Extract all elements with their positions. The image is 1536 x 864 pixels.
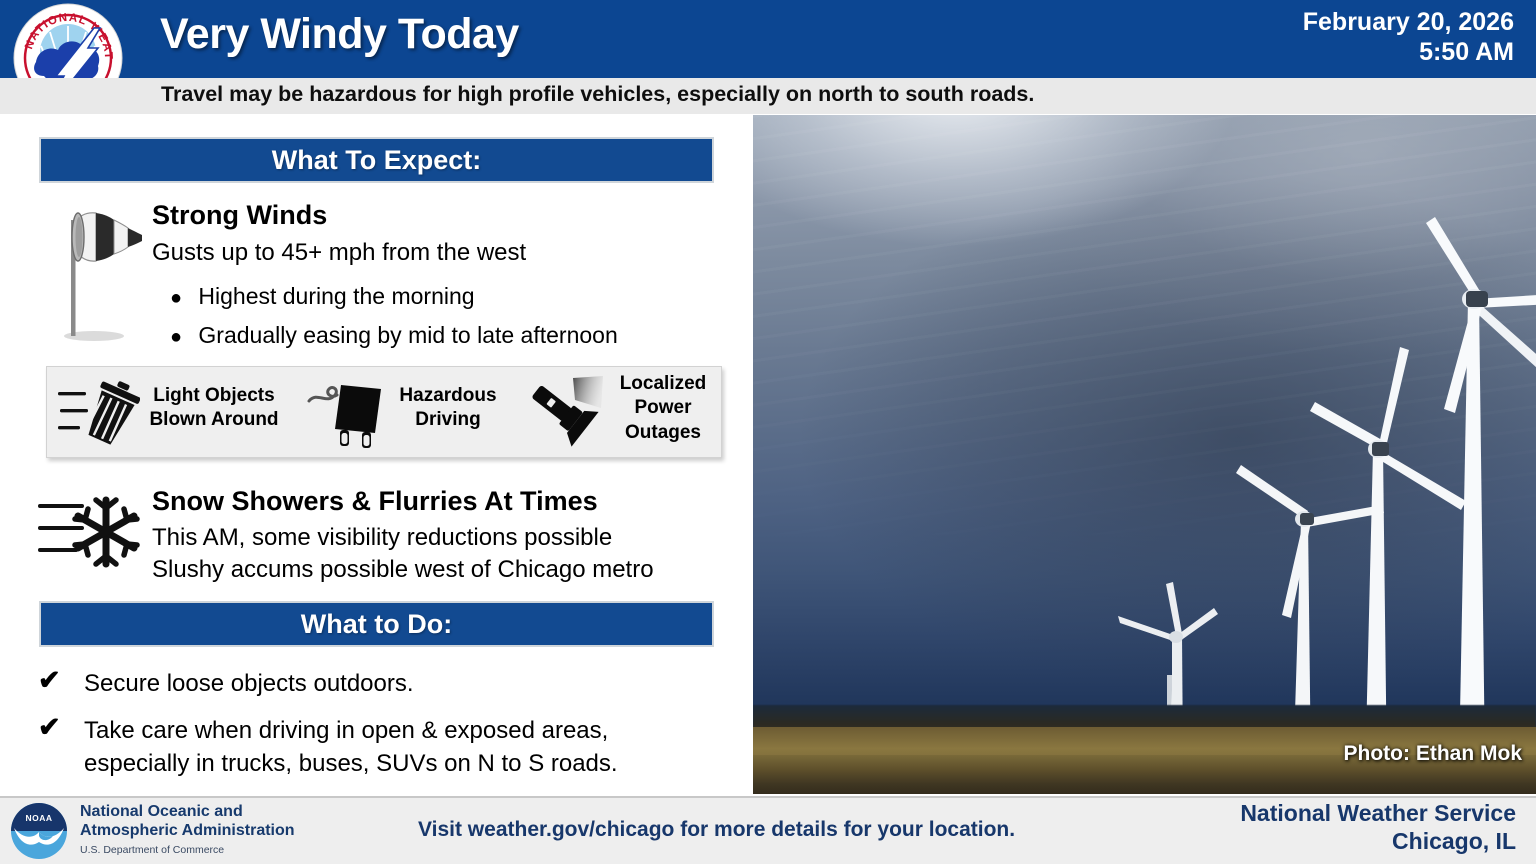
weather-graphic: NATIONAL WEATHER SERVICE Very Windy Toda… — [0, 0, 1536, 864]
impact-label-light-objects: Light Objects Blown Around — [140, 384, 288, 433]
noaa-seal-icon: NOAA — [8, 802, 70, 860]
snow-showers-line-2: Slushy accums possible west of Chicago m… — [152, 556, 654, 584]
strong-winds-bullet-2: ● Gradually easing by mid to late aftern… — [170, 322, 618, 349]
check-icon: ✔ — [38, 665, 61, 696]
svg-text:NOAA: NOAA — [25, 813, 52, 823]
what-to-do-label: What to Do: — [301, 609, 452, 640]
noaa-line-3: U.S. Department of Commerce — [80, 844, 295, 856]
wind-turbine-photo: Photo: Ethan Mok — [753, 115, 1536, 794]
strong-winds-heading: Strong Winds — [152, 200, 327, 231]
what-to-do-banner: What to Do: — [39, 601, 714, 647]
header-datetime: February 20, 2026 5:50 AM — [1303, 8, 1514, 67]
header-time: 5:50 AM — [1303, 38, 1514, 68]
footer-visit-text: Visit weather.gov/chicago for more detai… — [418, 818, 1015, 842]
snowflake-wind-icon — [32, 486, 144, 578]
subheader-text: Travel may be hazardous for high profile… — [161, 82, 1034, 107]
what-to-expect-label: What To Expect: — [272, 145, 482, 176]
what-to-do-item-2: Take care when driving in open & exposed… — [84, 714, 618, 780]
footer-office-line-2: Chicago, IL — [1240, 828, 1516, 856]
strong-winds-bullet-1: ● Highest during the morning — [170, 283, 475, 310]
windsock-icon — [52, 198, 152, 346]
flashlight-icon — [523, 374, 607, 448]
strong-winds-bullet-2-label: Gradually easing by mid to late afternoo… — [198, 322, 617, 348]
trash-can-blowing-icon — [58, 378, 140, 448]
wind-turbines — [753, 115, 1536, 794]
noaa-line-1: National Oceanic and — [80, 803, 295, 822]
footer-office: National Weather Service Chicago, IL — [1240, 800, 1516, 855]
strong-winds-detail: Gusts up to 45+ mph from the west — [152, 239, 526, 267]
impact-label-hazardous-driving: Hazardous Driving — [388, 384, 508, 433]
what-to-expect-banner: What To Expect: — [39, 137, 714, 183]
snow-showers-heading: Snow Showers & Flurries At Times — [152, 486, 598, 517]
page-title: Very Windy Today — [160, 10, 519, 59]
snow-showers-line-1: This AM, some visibility reductions poss… — [152, 524, 612, 552]
footer-office-line-1: National Weather Service — [1240, 800, 1516, 828]
check-icon: ✔ — [38, 712, 61, 743]
noaa-wordmark: National Oceanic and Atmospheric Adminis… — [80, 803, 295, 856]
header-date: February 20, 2026 — [1303, 8, 1514, 38]
bullet-dot-icon: ● — [170, 287, 192, 310]
strong-winds-bullet-1-label: Highest during the morning — [198, 283, 474, 309]
impact-label-power-outages: Localized Power Outages — [605, 372, 721, 445]
what-to-do-item-1: Secure loose objects outdoors. — [84, 667, 414, 700]
bullet-dot-icon: ● — [170, 326, 192, 349]
photo-credit: Photo: Ethan Mok — [1344, 742, 1522, 766]
noaa-line-2: Atmospheric Administration — [80, 822, 295, 841]
high-profile-vehicle-icon — [305, 375, 391, 449]
